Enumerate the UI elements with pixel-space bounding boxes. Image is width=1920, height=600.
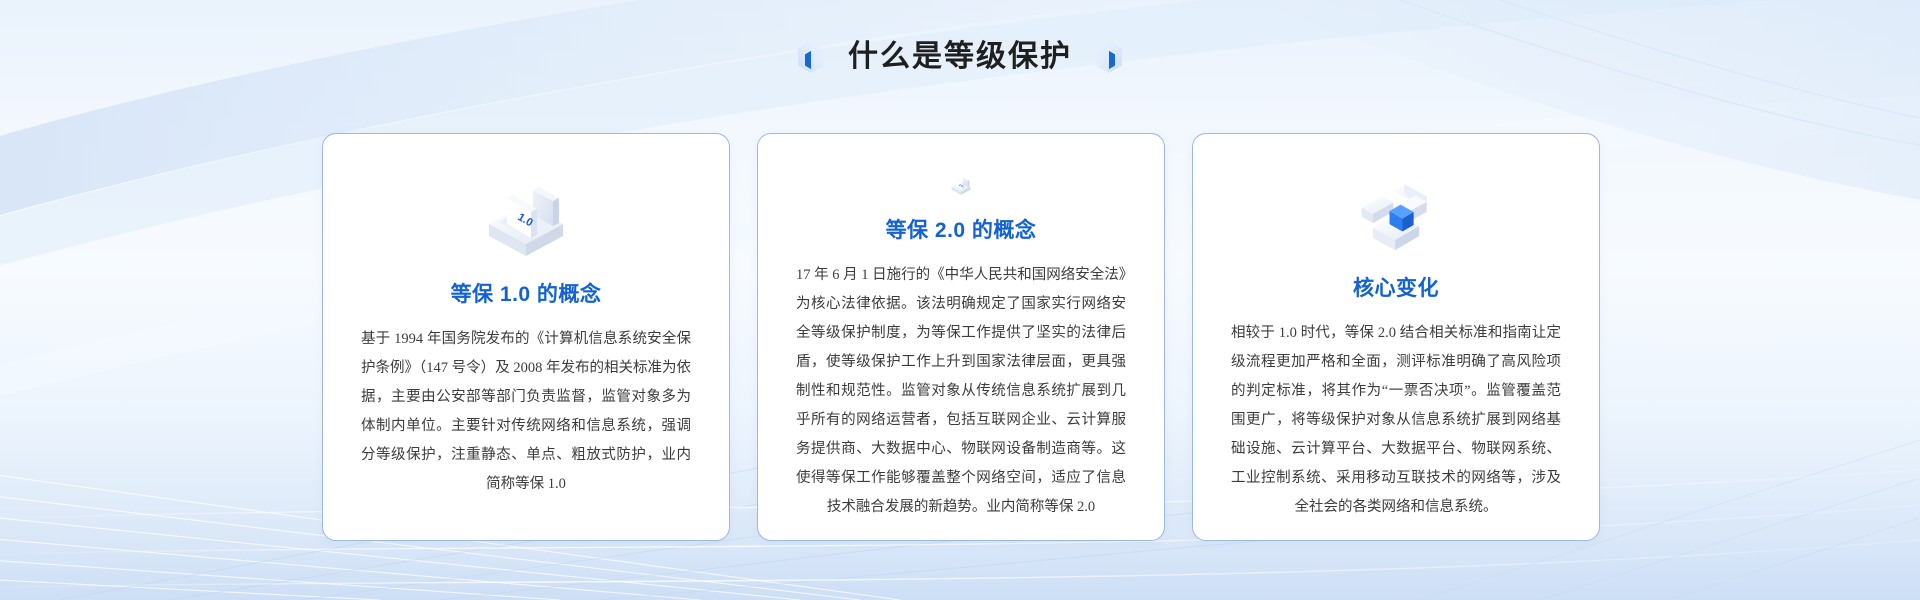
card-dengbao-1-0[interactable]: 1.0 等保 1.0 的概念 基于 1994 年国务院发布的《计算机信息系统安全… (322, 133, 730, 541)
card-title: 核心变化 (1353, 276, 1439, 301)
card-dengbao-2-0[interactable]: 2.0 等保 2.0 的概念 17 年 6 月 1 日施行的《中华人民共和国网络… (757, 133, 1165, 541)
hexagon-icon-right (1094, 40, 1124, 74)
card-title: 等保 1.0 的概念 (451, 282, 602, 307)
hexagon-icon-left (796, 40, 826, 74)
dengbao-1-0-icon: 1.0 (471, 174, 581, 260)
page-header: 什么是等级保护 (0, 40, 1920, 74)
concept-cards-row: 1.0 等保 1.0 的概念 基于 1994 年国务院发布的《计算机信息系统安全… (322, 133, 1600, 541)
card-core-change[interactable]: 核心变化 相较于 1.0 时代，等保 2.0 结合相关标准和指南让定级流程更加严… (1192, 133, 1600, 541)
core-change-blocks-icon (1341, 174, 1451, 254)
dengbao-2-0-icon: 2.0 (906, 174, 1016, 196)
card-body: 相较于 1.0 时代，等保 2.0 结合相关标准和指南让定级流程更加严格和全面，… (1231, 319, 1561, 522)
page-title: 什么是等级保护 (848, 42, 1072, 72)
card-title: 等保 2.0 的概念 (886, 218, 1037, 243)
card-body: 基于 1994 年国务院发布的《计算机信息系统安全保护条例》（147 号令）及 … (361, 325, 691, 499)
card-body: 17 年 6 月 1 日施行的《中华人民共和国网络安全法》为核心法律依据。该法明… (796, 261, 1126, 522)
